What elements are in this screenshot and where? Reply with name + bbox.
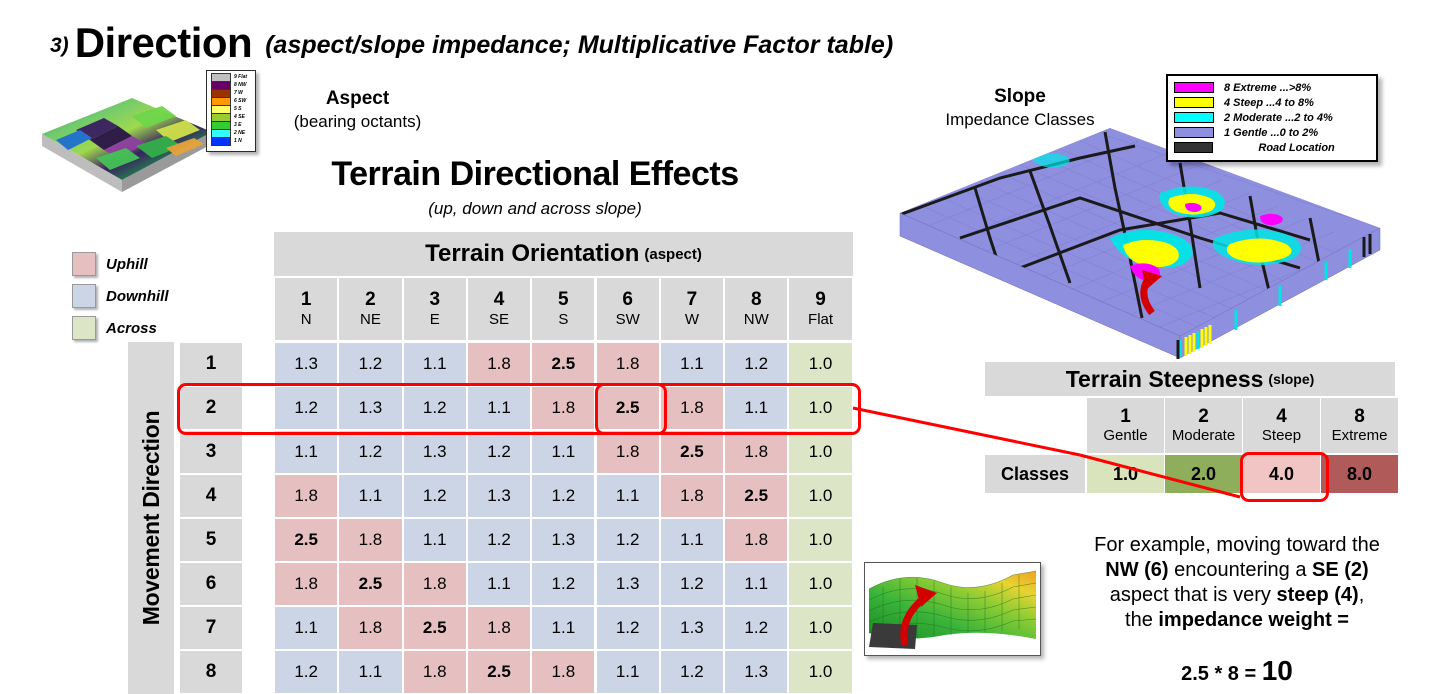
matrix-cell-r2-c5[interactable]: 1.8 [532,387,594,429]
aspect-legend-label: 6 SW [234,98,246,105]
steepness-col-number: 4 [1276,406,1287,427]
aspect-legend-label: 9 Flat [234,74,247,81]
matrix-cell-r2-c6[interactable]: 2.5 [597,387,659,429]
matrix-cell-r1-c9[interactable]: 1.0 [789,343,851,385]
matrix-cell-r7-c4[interactable]: 1.8 [468,607,530,649]
matrix-cell-r4-c7[interactable]: 1.8 [661,475,723,517]
col-header-number: 7 [687,290,698,310]
steepness-header-note: (slope) [1268,371,1314,387]
col-header-direction: NW [744,310,769,329]
example-line2-mid: encountering a [1169,559,1312,581]
steepness-col-number: 1 [1120,406,1131,427]
matrix-cell-r4-c5[interactable]: 1.2 [532,475,594,517]
matrix-cell-r5-c6[interactable]: 1.2 [597,519,659,561]
col-header-direction: S [558,310,568,329]
matrix-cell-r2-c4[interactable]: 1.1 [468,387,530,429]
col-header-direction: SW [616,310,640,329]
matrix-cell-r2-c7[interactable]: 1.8 [661,387,723,429]
example-line-2: NW (6) encountering a SE (2) [1040,558,1434,583]
matrix-cell-r8-c1[interactable]: 1.2 [275,651,337,693]
matrix-cell-r3-c1[interactable]: 1.1 [275,431,337,473]
terrain-directional-effects-title: Terrain Directional Effects [210,155,860,194]
steepness-col-header-8[interactable]: 8Extreme [1321,398,1398,453]
steepness-value-4[interactable]: 4.0 [1243,455,1320,493]
aspect-legend-label: 5 S [234,106,242,113]
aspect-legend-label: 2 NE [234,130,245,137]
example-line-4: the impedance weight = [1040,608,1434,633]
matrix-cell-r3-c6[interactable]: 1.8 [597,431,659,473]
col-header-number: 5 [558,290,569,310]
col-header-number: 2 [365,290,376,310]
matrix-cell-r5-c9[interactable]: 1.0 [789,519,851,561]
terrain-directional-effects-subtitle: (up, down and across slope) [210,199,860,219]
matrix-cell-r7-c5[interactable]: 1.1 [532,607,594,649]
matrix-cell-r6-c7[interactable]: 1.2 [661,563,723,605]
slope-legend-item: 2 Moderate ...2 to 4% [1174,110,1370,125]
steepness-col-label: Moderate [1172,427,1235,445]
matrix-col-header-3[interactable]: 3E [404,278,466,340]
title-main: Direction [75,22,253,64]
matrix-col-header-5[interactable]: 5S [532,278,594,340]
example-equation: 2.5 * 8 = 10 [1040,655,1434,687]
matrix-cell-r2-c8[interactable]: 1.1 [725,387,787,429]
example-steep-token: steep (4) [1276,584,1358,606]
terrain-steepness-table: Terrain Steepness (slope) 1Gentle2Modera… [985,362,1395,517]
col-header-number: 8 [751,290,762,310]
example-text: For example, moving toward the NW (6) en… [1040,533,1434,633]
aspect-legend-item: 1 N [209,137,253,145]
page-title: 3) Direction (aspect/slope impedance; Mu… [50,8,1390,64]
example-line3-post: , [1359,584,1365,606]
matrix-col-header-4[interactable]: 4SE [468,278,530,340]
matrix-row-header-5[interactable]: 5 [180,519,242,561]
matrix-cell-r1-c3[interactable]: 1.1 [404,343,466,385]
slope-subtitle: Impedance Classes [900,110,1140,130]
matrix-col-header-7[interactable]: 7W [661,278,723,340]
matrix-side-header: Movement Direction [128,342,174,694]
matrix-col-header-9[interactable]: 9Flat [789,278,851,340]
matrix-cell-r5-c7[interactable]: 1.1 [661,519,723,561]
matrix-cell-r8-c5[interactable]: 1.8 [532,651,594,693]
aspect-legend-label: 1 N [234,138,242,145]
matrix-cell-r1-c2[interactable]: 1.2 [339,343,401,385]
aspect-legend: 9 Flat 8 NW 7 W 6 SW 5 S 4 SE 3 E 2 NE 1… [206,70,256,152]
matrix-cell-r2-c2[interactable]: 1.3 [339,387,401,429]
aspect-legend-label: 4 SE [234,114,245,121]
steepness-value-1[interactable]: 1.0 [1087,455,1164,493]
matrix-cell-r7-c2[interactable]: 1.8 [339,607,401,649]
matrix-cell-r4-c6[interactable]: 1.1 [597,475,659,517]
slope-legend-label: 1 Gentle ...0 to 2% [1224,127,1318,139]
matrix-top-header-title: Terrain Orientation [425,240,639,268]
col-header-direction: N [301,310,312,329]
example-line4-pre: the [1125,609,1158,631]
matrix-cell-r6-c2[interactable]: 2.5 [339,563,401,605]
matrix-col-header-8[interactable]: 8NW [725,278,787,340]
matrix-cell-r4-c2[interactable]: 1.1 [339,475,401,517]
matrix-cell-r1-c7[interactable]: 1.1 [661,343,723,385]
steepness-header: Terrain Steepness (slope) [985,362,1395,396]
example-line-3: aspect that is very steep (4), [1040,583,1434,608]
matrix-cell-r1-c4[interactable]: 1.8 [468,343,530,385]
col-header-number: 1 [301,290,312,310]
col-header-direction: SE [489,310,509,329]
matrix-cell-r4-c3[interactable]: 1.2 [404,475,466,517]
slope-legend-label: 8 Extreme ...>8% [1224,82,1311,94]
matrix-cell-r5-c1[interactable]: 2.5 [275,519,337,561]
steepness-col-label: Gentle [1103,427,1147,445]
matrix-cell-r3-c5[interactable]: 1.1 [532,431,594,473]
slope-legend-item: Road Location [1174,140,1370,155]
matrix-cell-r6-c8[interactable]: 1.1 [725,563,787,605]
col-header-number: 4 [494,290,505,310]
matrix-cell-r6-c4[interactable]: 1.1 [468,563,530,605]
aspect-legend-label: 3 E [234,122,242,129]
matrix-row-header-1[interactable]: 1 [180,343,242,385]
steepness-value-8[interactable]: 8.0 [1321,455,1398,493]
slope-title: Slope [930,86,1110,108]
example-se-token: SE (2) [1312,559,1369,581]
col-header-direction: E [430,310,440,329]
aspect-title: Aspect [270,88,445,110]
matrix-row-header-2[interactable]: 2 [180,387,242,429]
matrix-cell-r1-c8[interactable]: 1.2 [725,343,787,385]
matrix-row-header-3[interactable]: 3 [180,431,242,473]
matrix-col-header-1[interactable]: 1N [275,278,337,340]
matrix-cell-r1-c5[interactable]: 2.5 [532,343,594,385]
slope-legend-swatch [1174,82,1214,93]
steepness-row-label: Classes [985,455,1085,493]
matrix-cell-r8-c4[interactable]: 2.5 [468,651,530,693]
matrix-row-header-8[interactable]: 8 [180,651,242,693]
matrix-cell-r2-c3[interactable]: 1.2 [404,387,466,429]
slope-legend-item: 4 Steep ...4 to 8% [1174,95,1370,110]
steepness-col-header-1[interactable]: 1Gentle [1087,398,1164,453]
matrix-cell-r6-c9[interactable]: 1.0 [789,563,851,605]
matrix-cell-r6-c1[interactable]: 1.8 [275,563,337,605]
matrix-cell-r3-c4[interactable]: 1.2 [468,431,530,473]
aspect-legend-label: 8 NW [234,82,247,89]
matrix-cell-r4-c1[interactable]: 1.8 [275,475,337,517]
example-line3-pre: aspect that is very [1110,584,1277,606]
matrix-col-header-6[interactable]: 6SW [597,278,659,340]
matrix-cell-r8-c7[interactable]: 1.2 [661,651,723,693]
col-header-direction: W [685,310,699,329]
slope-legend-item: 1 Gentle ...0 to 2% [1174,125,1370,140]
matrix-cell-r6-c3[interactable]: 1.8 [404,563,466,605]
matrix-cell-r4-c9[interactable]: 1.0 [789,475,851,517]
matrix-cell-r8-c6[interactable]: 1.1 [597,651,659,693]
col-header-number: 3 [429,290,440,310]
matrix-cell-r3-c7[interactable]: 2.5 [661,431,723,473]
steepness-value-2[interactable]: 2.0 [1165,455,1242,493]
matrix-cell-r2-c1[interactable]: 1.2 [275,387,337,429]
matrix-cell-r5-c2[interactable]: 1.8 [339,519,401,561]
aspect-legend-label: 7 W [234,90,243,97]
matrix-cell-r1-c6[interactable]: 1.8 [597,343,659,385]
matrix-cell-r6-c5[interactable]: 1.2 [532,563,594,605]
slope-legend-swatch [1174,97,1214,108]
title-subtitle: (aspect/slope impedance; Multiplicative … [265,31,893,64]
matrix-top-header-note: (aspect) [644,246,702,263]
col-header-direction: Flat [808,310,833,329]
matrix-cell-r3-c2[interactable]: 1.2 [339,431,401,473]
matrix-col-header-2[interactable]: 2NE [339,278,401,340]
matrix-side-header-label: Movement Direction [128,342,174,694]
matrix-cell-r7-c1[interactable]: 1.1 [275,607,337,649]
matrix-cell-r7-c3[interactable]: 2.5 [404,607,466,649]
matrix-row-header-6[interactable]: 6 [180,563,242,605]
example-line-1: For example, moving toward the [1040,533,1434,558]
matrix-cell-r8-c2[interactable]: 1.1 [339,651,401,693]
slope-impedance-legend: 8 Extreme ...>8% 4 Steep ...4 to 8% 2 Mo… [1166,74,1378,162]
matrix-cell-r3-c8[interactable]: 1.8 [725,431,787,473]
matrix-cell-r6-c6[interactable]: 1.3 [597,563,659,605]
matrix-cell-r8-c8[interactable]: 1.3 [725,651,787,693]
matrix-cell-r7-c7[interactable]: 1.3 [661,607,723,649]
equation-expression: 2.5 * 8 = [1181,663,1262,685]
matrix-cell-r4-c4[interactable]: 1.3 [468,475,530,517]
equation-result: 10 [1262,655,1293,686]
steepness-col-number: 2 [1198,406,1209,427]
matrix-cell-r8-c9[interactable]: 1.0 [789,651,851,693]
steepness-header-title: Terrain Steepness [1066,366,1264,393]
matrix-cell-r7-c8[interactable]: 1.2 [725,607,787,649]
matrix-cell-r3-c9[interactable]: 1.0 [789,431,851,473]
steepness-col-number: 8 [1354,406,1365,427]
matrix-cell-r5-c3[interactable]: 1.1 [404,519,466,561]
steepness-col-header-4[interactable]: 4Steep [1243,398,1320,453]
col-header-direction: NE [360,310,381,329]
slope-legend-label: 2 Moderate ...2 to 4% [1224,112,1333,124]
aspect-legend-swatch [211,137,231,146]
matrix-cell-r2-c9[interactable]: 1.0 [789,387,851,429]
matrix-cell-r7-c6[interactable]: 1.2 [597,607,659,649]
matrix-top-header: Terrain Orientation (aspect) [274,232,853,276]
aspect-subtitle: (bearing octants) [270,112,445,132]
slope-legend-label: 4 Steep ...4 to 8% [1224,97,1314,109]
slope-legend-swatch [1174,127,1214,138]
example-terrain-thumbnail [864,562,1041,656]
slope-legend-swatch [1174,112,1214,123]
steepness-col-label: Steep [1262,427,1301,445]
slope-legend-label: Road Location [1223,142,1370,154]
example-nw-token: NW (6) [1105,559,1168,581]
example-impedance-token: impedance weight = [1158,609,1349,631]
matrix-row-header-4[interactable]: 4 [180,475,242,517]
matrix-cell-r1-c1[interactable]: 1.3 [275,343,337,385]
col-header-number: 9 [815,290,826,310]
aspect-terrain-thumbnail [36,88,216,198]
title-number: 3) [50,34,69,64]
matrix-cell-r5-c8[interactable]: 1.8 [725,519,787,561]
matrix-cell-r3-c3[interactable]: 1.3 [404,431,466,473]
matrix-cell-r8-c3[interactable]: 1.8 [404,651,466,693]
steepness-col-label: Extreme [1332,427,1388,445]
matrix-cell-r5-c5[interactable]: 1.3 [532,519,594,561]
slope-legend-swatch [1174,142,1213,153]
slope-legend-item: 8 Extreme ...>8% [1174,80,1370,95]
terrain-orientation-matrix: Terrain Orientation (aspect) 1N2NE3E4SE5… [64,232,853,694]
steepness-col-header-2[interactable]: 2Moderate [1165,398,1242,453]
matrix-row-header-7[interactable]: 7 [180,607,242,649]
matrix-cell-r4-c8[interactable]: 2.5 [725,475,787,517]
matrix-cell-r7-c9[interactable]: 1.0 [789,607,851,649]
col-header-number: 6 [622,290,633,310]
matrix-cell-r5-c4[interactable]: 1.2 [468,519,530,561]
